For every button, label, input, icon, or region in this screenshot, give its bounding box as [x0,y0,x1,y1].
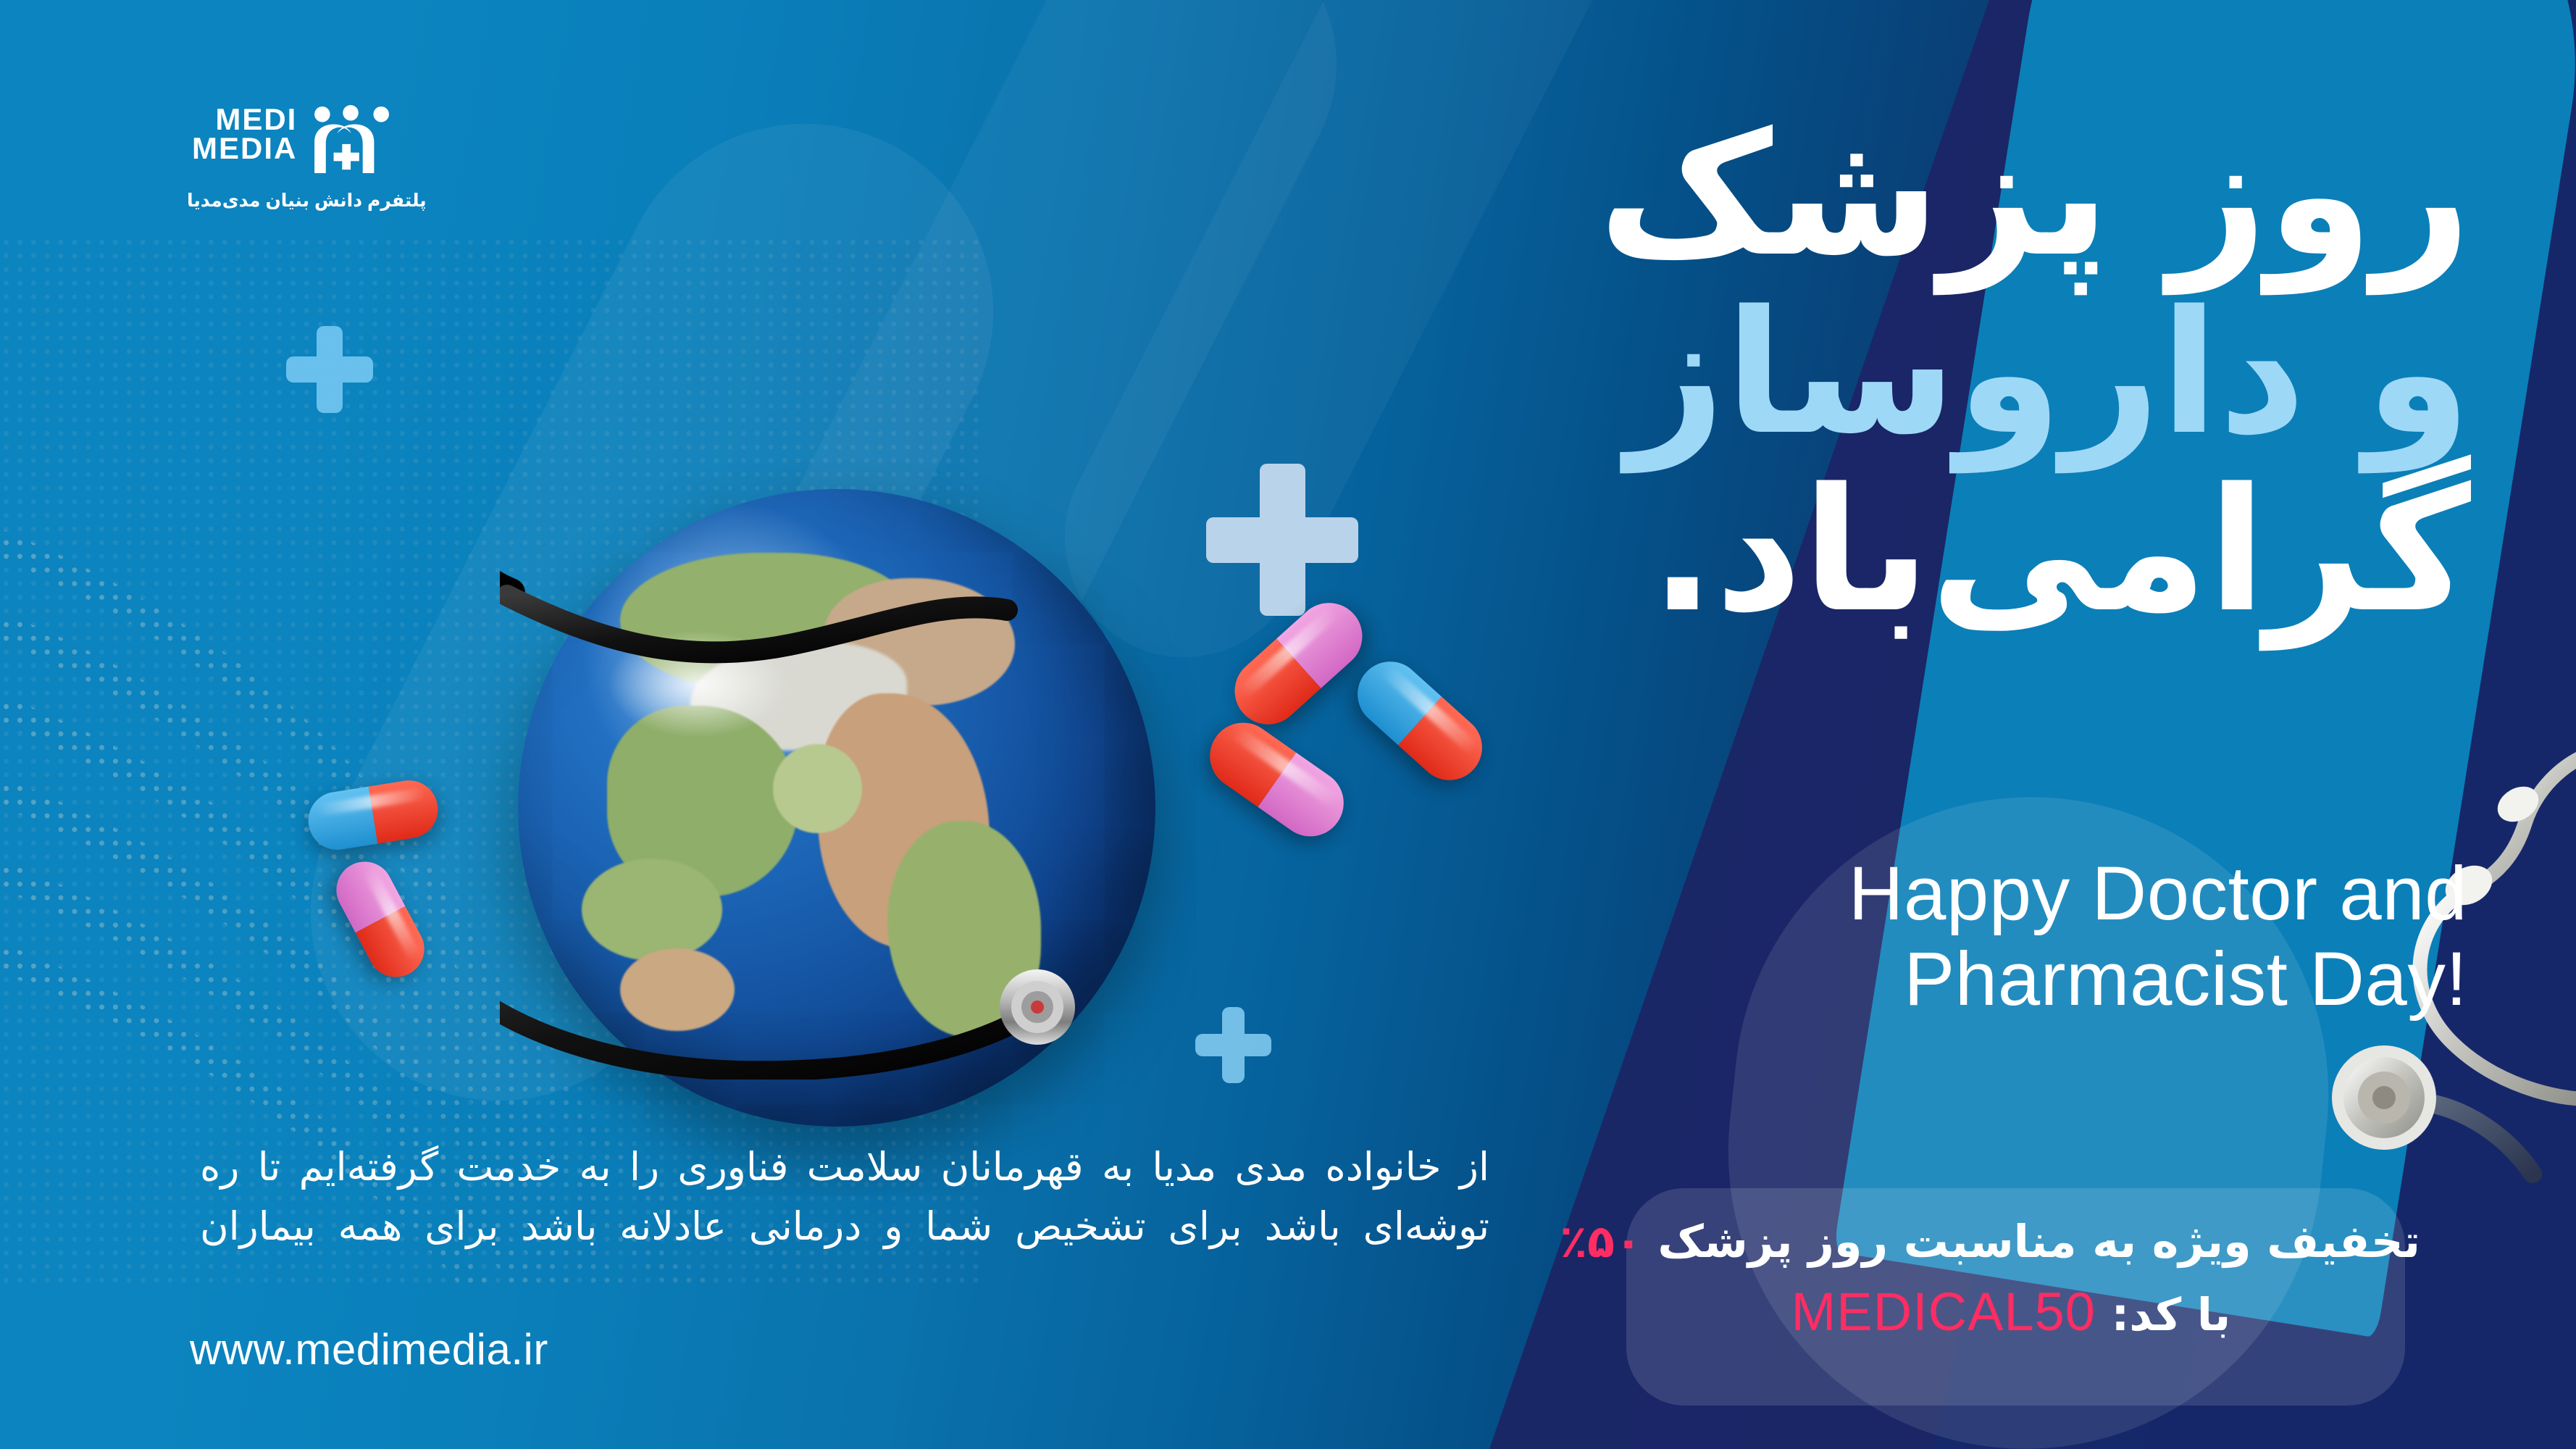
english-line-1: Happy Doctor and [1555,851,2467,937]
website-url[interactable]: www.medimedia.ir [190,1324,548,1374]
headline-line-2: و داروساز [1471,287,2471,461]
discount-code-row: با کد: MEDICAL50 [1602,1280,2420,1345]
discount-percent: ۵۰٪ [1560,1215,1642,1268]
headline-line-3: گرامی‌باد. [1471,464,2471,638]
english-line-2: Pharmacist Day! [1555,937,2467,1022]
globe-artwork [500,427,1195,1080]
discount-text: تخفیف ویژه به مناسبت روز پزشک [1657,1215,2420,1268]
headline-block: روز پزشک و داروساز گرامی‌باد. [1471,109,2471,643]
medical-cross-small-bottom-icon [1195,1007,1271,1083]
discount-block[interactable]: تخفیف ویژه به مناسبت روز پزشک ۵۰٪ با کد:… [1602,1214,2420,1344]
medical-cross-small-left-icon [286,326,373,413]
discount-code-label: با کد: [2112,1288,2231,1341]
english-subtitle: Happy Doctor and Pharmacist Day! [1555,851,2467,1022]
logo-word-media: MEDIA [192,134,297,163]
headline-line-1: روز پزشک [1471,109,2471,283]
logo-word-medi: MEDI [192,105,297,134]
globe-highlight [607,630,788,738]
two-people-plus-logo-icon [310,105,396,175]
discount-code-value[interactable]: MEDICAL50 [1791,1280,2096,1345]
promo-banner: MEDI MEDIA پلتفرم دانش بنیان مدی‌مدیا [0,0,2576,1449]
discount-headline: تخفیف ویژه به مناسبت روز پزشک ۵۰٪ [1602,1214,2420,1270]
body-paragraph: از خانواده مدی مدیا به قهرمانان سلامت فن… [200,1137,1489,1256]
logo-tagline: پلتفرم دانش بنیان مدی‌مدیا [187,190,427,212]
earth-globe-icon [518,489,1155,1127]
brand-logo[interactable]: MEDI MEDIA [192,105,396,175]
